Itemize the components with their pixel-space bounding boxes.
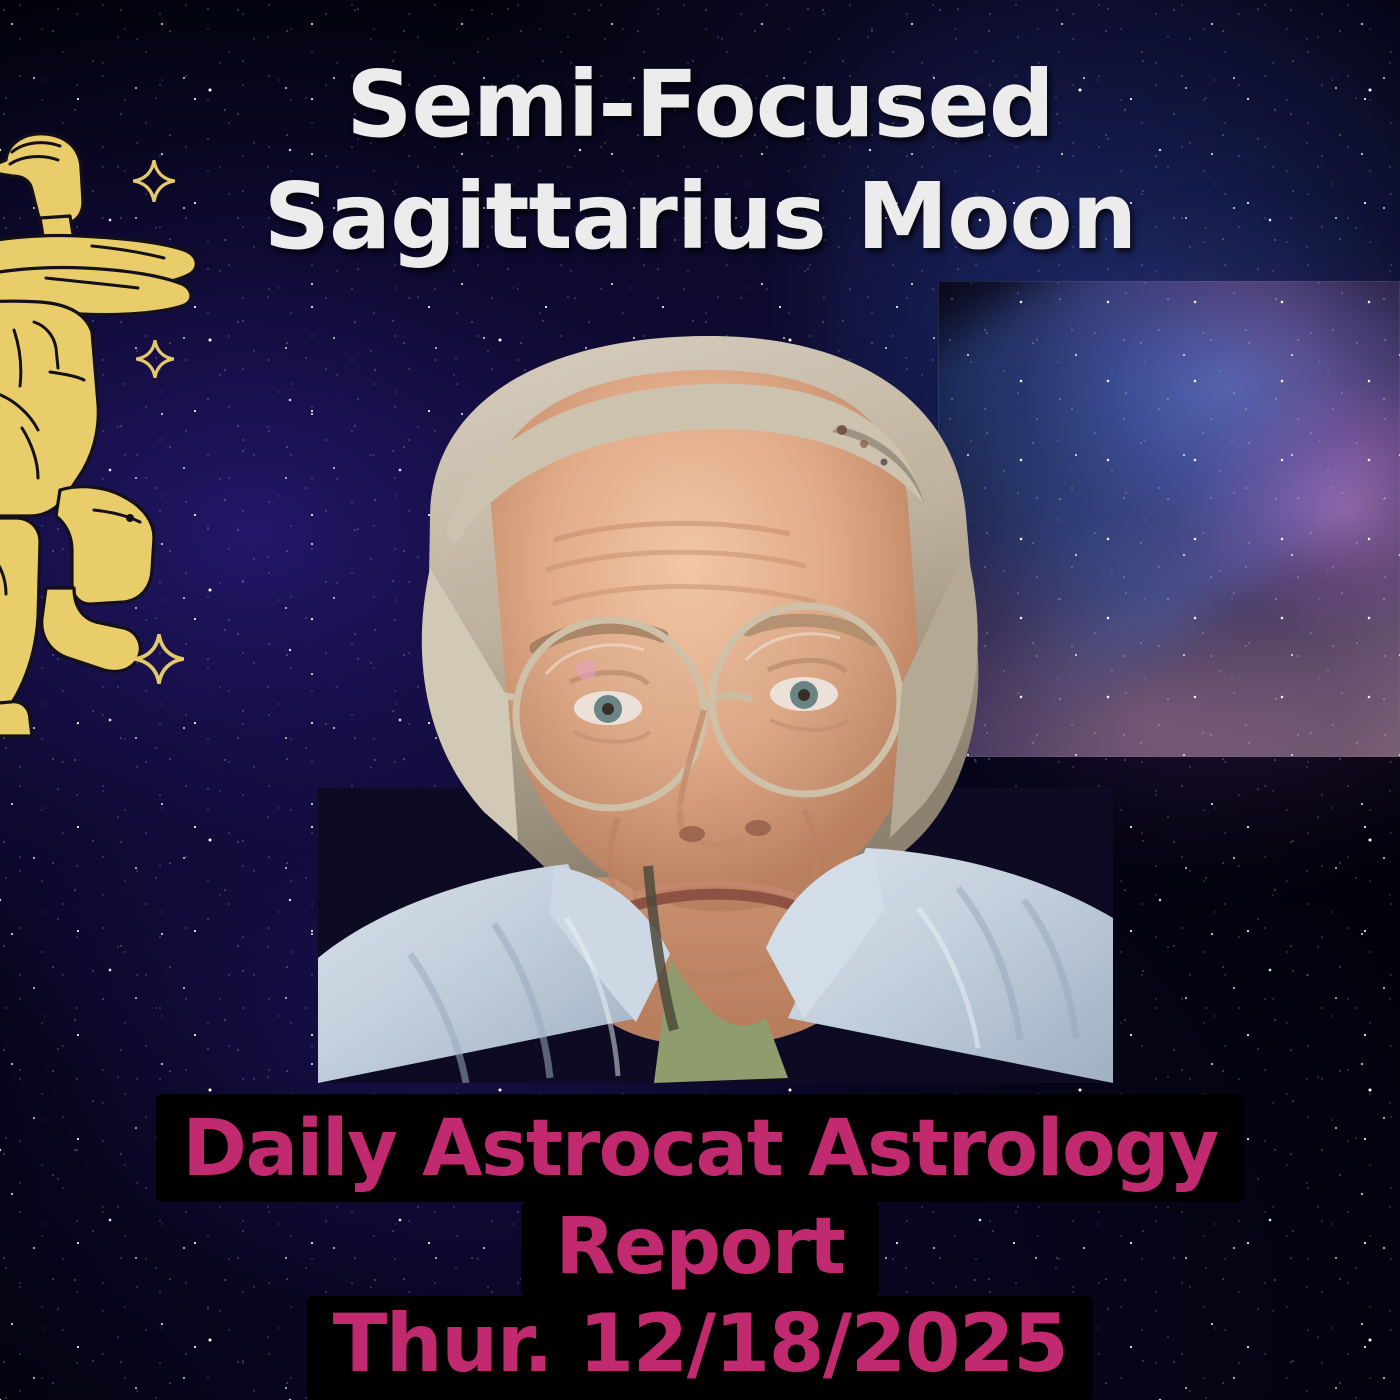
podcast-cover-art: Semi-Focused Sagittarius Moon Daily Astr… (0, 0, 1400, 1400)
title-line-1: Semi-Focused (0, 46, 1400, 164)
cover-title: Semi-Focused Sagittarius Moon (0, 46, 1400, 276)
caption-line-3: Thur. 12/18/2025 (307, 1296, 1094, 1400)
host-portrait-photo (318, 318, 1113, 1083)
caption-line-1: Daily Astrocat Astrology (156, 1094, 1243, 1202)
title-line-2: Sagittarius Moon (0, 158, 1400, 276)
caption-line-2: Report (521, 1202, 878, 1296)
cover-caption: Daily Astrocat Astrology Report Thur. 12… (0, 1094, 1400, 1400)
